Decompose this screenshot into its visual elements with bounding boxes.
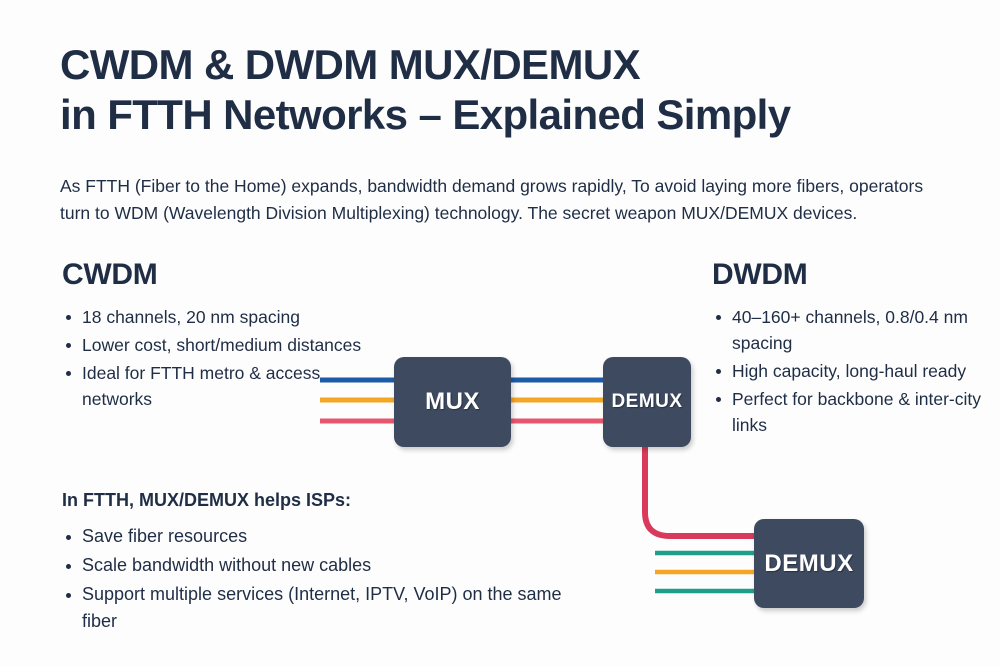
list-item: High capacity, long-haul ready bbox=[712, 358, 982, 384]
intro-paragraph: As FTTH (Fiber to the Home) expands, ban… bbox=[60, 173, 940, 227]
list-item: Scale bandwidth without new cables bbox=[62, 552, 582, 579]
mux-device-label: MUX bbox=[425, 388, 480, 416]
dwdm-heading: DWDM bbox=[712, 258, 982, 292]
list-item: 40–160+ channels, 0.8/0.4 nm spacing bbox=[712, 304, 982, 356]
page-title: CWDM & DWDM MUX/DEMUX in FTTH Networks –… bbox=[60, 40, 920, 140]
demux-bottom-device-box: DEMUX bbox=[754, 519, 864, 608]
page-title-line-2: in FTTH Networks – Explained Simply bbox=[60, 90, 920, 140]
page-title-line-1: CWDM & DWDM MUX/DEMUX bbox=[60, 40, 920, 90]
list-item: Save fiber resources bbox=[62, 523, 582, 550]
mux-device-box: MUX bbox=[394, 357, 511, 447]
fiber-line-crimson-drop bbox=[645, 444, 760, 536]
isp-benefits-heading: In FTTH, MUX/DEMUX helps ISPs: bbox=[62, 490, 582, 511]
isp-benefits-list: Save fiber resources Scale bandwidth wit… bbox=[62, 523, 582, 635]
list-item: 18 channels, 20 nm spacing bbox=[62, 304, 382, 330]
list-item: Support multiple services (Internet, IPT… bbox=[62, 581, 582, 635]
dwdm-bullet-list: 40–160+ channels, 0.8/0.4 nm spacing Hig… bbox=[712, 304, 982, 438]
list-item: Lower cost, short/medium distances bbox=[62, 332, 382, 358]
cwdm-bullet-list: 18 channels, 20 nm spacing Lower cost, s… bbox=[62, 304, 382, 412]
demux-top-device-box: DEMUX bbox=[603, 357, 691, 447]
cwdm-column: CWDM 18 channels, 20 nm spacing Lower co… bbox=[62, 258, 382, 414]
demux-top-device-label: DEMUX bbox=[611, 391, 682, 413]
infographic-page: CWDM & DWDM MUX/DEMUX in FTTH Networks –… bbox=[0, 0, 1000, 666]
demux-bottom-device-label: DEMUX bbox=[764, 550, 853, 578]
cwdm-heading: CWDM bbox=[62, 258, 382, 292]
list-item: Ideal for FTTH metro & access networks bbox=[62, 360, 382, 412]
isp-benefits-block: In FTTH, MUX/DEMUX helps ISPs: Save fibe… bbox=[62, 490, 582, 637]
list-item: Perfect for backbone & inter-city links bbox=[712, 386, 982, 438]
dwdm-column: DWDM 40–160+ channels, 0.8/0.4 nm spacin… bbox=[712, 258, 982, 440]
